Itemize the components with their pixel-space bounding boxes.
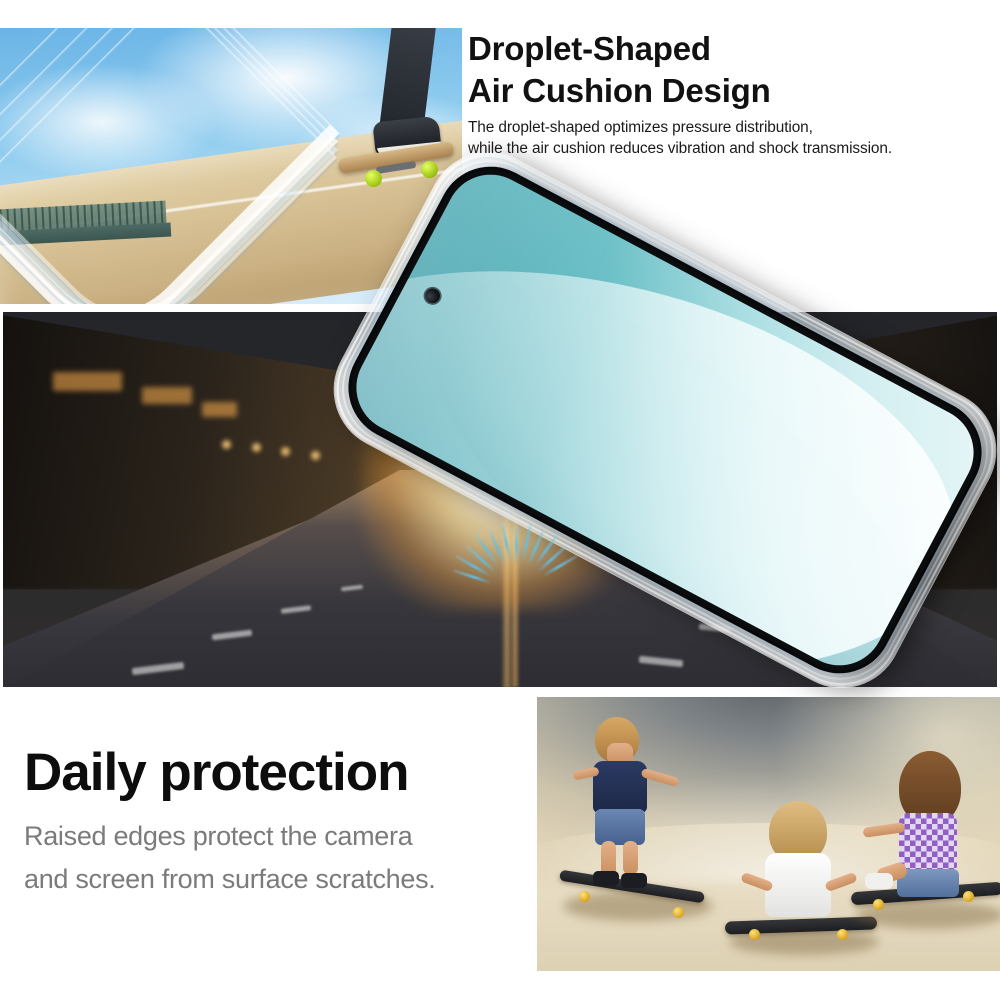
child-shoe bbox=[865, 873, 893, 889]
window-light bbox=[818, 395, 878, 418]
skateboarder-feet bbox=[336, 28, 456, 199]
image-clear-case-corner-skatepark bbox=[0, 28, 462, 304]
child-leg bbox=[623, 841, 638, 875]
child-shorts bbox=[595, 809, 645, 845]
top-subcopy-line1: The droplet-shaped optimizes pressure di… bbox=[468, 119, 813, 136]
skateboard-wheel bbox=[579, 891, 590, 902]
skateboard-wheel bbox=[421, 161, 438, 178]
skateboard-wheel bbox=[963, 891, 974, 902]
child-standing-skateboarder bbox=[567, 715, 697, 925]
top-subcopy-line2: while the air cushion reduces vibration … bbox=[468, 140, 892, 157]
top-headline-line1: Droplet-Shaped bbox=[468, 30, 711, 67]
top-headline: Droplet-Shaped Air Cushion Design bbox=[468, 28, 992, 112]
bottom-subcopy: Raised edges protect the camera and scre… bbox=[24, 815, 544, 902]
child-sitting-center bbox=[735, 801, 865, 961]
street-lamp bbox=[252, 443, 261, 452]
top-headline-line2: Air Cushion Design bbox=[468, 72, 771, 109]
street-lamp bbox=[311, 451, 320, 460]
child-shoe bbox=[621, 873, 647, 888]
child-sitting-right bbox=[865, 751, 995, 941]
window-light bbox=[142, 387, 192, 404]
image-kids-skatepark bbox=[537, 697, 1000, 971]
sun-glow bbox=[360, 350, 640, 610]
child-shirt bbox=[899, 813, 957, 875]
child-shoe bbox=[593, 871, 619, 886]
image-sunset-city-street bbox=[3, 312, 997, 687]
window-light bbox=[202, 402, 237, 417]
top-subcopy: The droplet-shaped optimizes pressure di… bbox=[468, 118, 992, 159]
skateboard-wheel bbox=[837, 929, 848, 940]
skateboard-wheel bbox=[873, 899, 884, 910]
bottom-subcopy-line1: Raised edges protect the camera bbox=[24, 821, 412, 851]
product-feature-page: Droplet-Shaped Air Cushion Design The dr… bbox=[0, 0, 1000, 1000]
bottom-headline: Daily protection bbox=[24, 745, 544, 801]
child-shirt bbox=[765, 853, 831, 917]
skateboard-wheel bbox=[749, 929, 760, 940]
window-light bbox=[53, 372, 123, 391]
bottom-feature-text: Daily protection Raised edges protect th… bbox=[24, 745, 544, 902]
street-lamp bbox=[222, 440, 231, 449]
skateboard-wheel bbox=[365, 170, 382, 187]
skateboard-wheel bbox=[673, 907, 684, 918]
bottom-subcopy-line2: and screen from surface scratches. bbox=[24, 864, 435, 894]
child-shirt bbox=[593, 761, 647, 813]
top-feature-text: Droplet-Shaped Air Cushion Design The dr… bbox=[468, 28, 992, 159]
